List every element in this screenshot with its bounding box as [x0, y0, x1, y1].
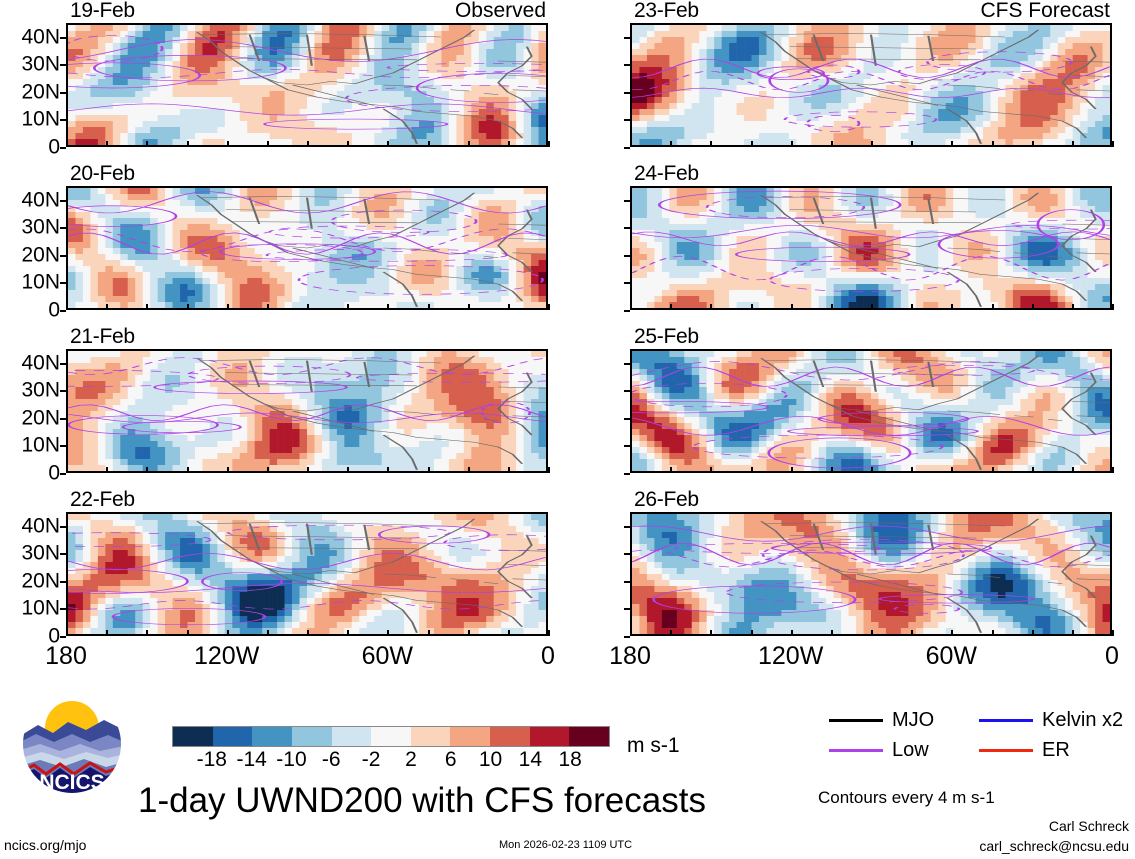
colorbar-swatch-4	[332, 727, 372, 746]
x-tick-mark	[106, 630, 108, 636]
x-tick-mark	[1032, 630, 1034, 636]
low-line-icon	[829, 749, 883, 752]
legend-item-low: Low	[829, 740, 979, 760]
y-tick-mark	[624, 37, 630, 39]
timestamp: Mon 2026-02-23 1109 UTC	[499, 840, 632, 851]
x-tick-mark	[751, 630, 753, 636]
x-tick-mark	[307, 467, 309, 473]
y-tick-mark	[624, 64, 630, 66]
y-tick-mark	[60, 390, 66, 392]
colorbar-tick-label: -2	[362, 749, 381, 770]
panel-date-label: 20-Feb	[70, 163, 135, 184]
x-tick-mark	[387, 467, 389, 473]
x-tick-mark	[106, 304, 108, 310]
figure-title: 1-day UWND200 with CFS forecasts	[138, 783, 706, 818]
legend-row: Low ER	[829, 735, 1129, 765]
x-tick-mark	[911, 141, 913, 147]
site-url: ncics.org/mjo	[4, 838, 86, 852]
legend-item-er: ER	[979, 740, 1129, 760]
x-tick-mark	[710, 304, 712, 310]
map-panel-20-feb: 20-Feb40N30N20N10N0	[66, 186, 548, 310]
legend-label: MJO	[892, 710, 934, 730]
x-tick-mark	[468, 304, 470, 310]
y-tick-mark	[624, 119, 630, 121]
panel-date-label: 21-Feb	[70, 326, 135, 347]
x-tick-mark	[992, 467, 994, 473]
y-tick-mark	[60, 255, 66, 257]
x-tick-mark	[187, 304, 189, 310]
y-tick-mark	[624, 636, 630, 638]
map-plot-area	[66, 23, 548, 147]
x-tick-mark	[548, 630, 550, 636]
x-tick-mark	[1112, 141, 1114, 147]
colorbar-tick-label: 14	[519, 749, 542, 770]
x-tick-mark	[791, 467, 793, 473]
x-tick-mark	[992, 304, 994, 310]
y-tick-mark	[60, 92, 66, 94]
y-axis-label: 20N	[21, 81, 60, 102]
y-axis-label: 40N	[21, 515, 60, 536]
y-tick-mark	[624, 310, 630, 312]
x-tick-mark	[670, 467, 672, 473]
x-tick-mark	[1072, 630, 1074, 636]
y-axis-label: 20N	[21, 407, 60, 428]
x-tick-mark	[992, 630, 994, 636]
panel-grid: 19-FebObserved40N30N20N10N020-Feb40N30N2…	[0, 0, 1135, 680]
x-tick-mark	[106, 141, 108, 147]
legend-label: Low	[892, 740, 929, 760]
column-header-observed: Observed	[455, 0, 546, 21]
ncics-logo-text: NCICS	[39, 771, 104, 794]
map-plot-area	[630, 186, 1112, 310]
y-axis-label: 40N	[21, 26, 60, 47]
map-panel-24-feb: 24-Feb	[630, 186, 1112, 310]
x-tick-mark	[670, 141, 672, 147]
map-panel-19-feb: 19-FebObserved40N30N20N10N0	[66, 23, 548, 147]
x-axis-label: 0	[541, 644, 555, 669]
y-axis-label: 30N	[21, 217, 60, 238]
colorbar-units: m s-1	[627, 735, 680, 756]
colorbar-tick-label: -6	[322, 749, 341, 770]
x-tick-mark	[146, 141, 148, 147]
er-line-icon	[979, 749, 1033, 752]
x-axis-label: 60W	[362, 644, 413, 669]
legend-row: MJO Kelvin x2	[829, 705, 1129, 735]
y-axis-label: 20N	[21, 244, 60, 265]
x-tick-mark	[548, 467, 550, 473]
x-tick-mark	[951, 467, 953, 473]
panel-date-label: 19-Feb	[70, 0, 135, 21]
x-tick-mark	[871, 141, 873, 147]
x-tick-mark	[1072, 304, 1074, 310]
map-plot-area	[630, 512, 1112, 636]
x-tick-mark	[428, 304, 430, 310]
y-tick-mark	[624, 255, 630, 257]
author-email: carl_schreck@ncsu.edu	[979, 839, 1129, 853]
x-tick-mark	[146, 304, 148, 310]
colorbar-swatch-2	[252, 727, 292, 746]
x-tick-mark	[428, 467, 430, 473]
mjo-line-icon	[829, 719, 883, 722]
x-tick-mark	[548, 141, 550, 147]
x-tick-mark	[1112, 630, 1114, 636]
map-panel-21-feb: 21-Feb40N30N20N10N0	[66, 349, 548, 473]
x-tick-mark	[508, 630, 510, 636]
x-tick-mark	[227, 630, 229, 636]
y-tick-mark	[60, 363, 66, 365]
y-tick-mark	[60, 64, 66, 66]
x-tick-mark	[831, 304, 833, 310]
x-tick-mark	[468, 630, 470, 636]
colorbar-tick-label: -10	[276, 749, 306, 770]
y-axis-label: 0	[48, 463, 60, 484]
x-tick-mark	[951, 141, 953, 147]
map-plot-area	[630, 23, 1112, 147]
legend-item-mjo: MJO	[829, 710, 979, 730]
x-tick-mark	[187, 467, 189, 473]
panel-date-label: 24-Feb	[634, 163, 699, 184]
y-tick-mark	[60, 37, 66, 39]
colorbar-swatch-7	[450, 727, 490, 746]
colorbar-tick-label: 18	[558, 749, 581, 770]
x-tick-mark	[347, 304, 349, 310]
colorbar-swatches	[172, 726, 610, 747]
x-axis-label: 120W	[194, 644, 259, 669]
x-tick-mark	[187, 630, 189, 636]
map-panel-25-feb: 25-Feb	[630, 349, 1112, 473]
x-tick-mark	[66, 630, 68, 636]
x-tick-mark	[710, 467, 712, 473]
y-axis-label: 30N	[21, 543, 60, 564]
y-tick-mark	[624, 282, 630, 284]
y-tick-mark	[624, 200, 630, 202]
y-tick-mark	[60, 445, 66, 447]
x-tick-mark	[267, 467, 269, 473]
kelvin-line-icon	[979, 719, 1033, 722]
x-tick-mark	[1032, 304, 1034, 310]
y-axis-label: 20N	[21, 570, 60, 591]
x-tick-mark	[1032, 467, 1034, 473]
x-tick-mark	[146, 467, 148, 473]
y-axis-label: 0	[48, 300, 60, 321]
x-tick-mark	[751, 467, 753, 473]
y-tick-mark	[624, 363, 630, 365]
y-tick-mark	[624, 608, 630, 610]
y-tick-mark	[60, 119, 66, 121]
x-tick-mark	[791, 630, 793, 636]
y-axis-label: 40N	[21, 352, 60, 373]
y-axis-label: 10N	[21, 598, 60, 619]
x-tick-mark	[710, 630, 712, 636]
y-tick-mark	[624, 526, 630, 528]
y-tick-mark	[624, 581, 630, 583]
x-tick-mark	[630, 467, 632, 473]
x-tick-mark	[710, 141, 712, 147]
panel-date-label: 25-Feb	[634, 326, 699, 347]
x-tick-mark	[751, 141, 753, 147]
x-tick-mark	[468, 467, 470, 473]
x-tick-mark	[307, 141, 309, 147]
map-plot-area	[66, 512, 548, 636]
colorbar-swatch-3	[292, 727, 332, 746]
x-tick-mark	[670, 304, 672, 310]
x-tick-mark	[831, 141, 833, 147]
y-axis-label: 40N	[21, 189, 60, 210]
y-axis-label: 30N	[21, 54, 60, 75]
x-tick-mark	[387, 630, 389, 636]
y-tick-mark	[60, 310, 66, 312]
x-tick-mark	[911, 630, 913, 636]
y-axis-label: 10N	[21, 272, 60, 293]
colorbar-swatch-0	[173, 727, 213, 746]
x-tick-mark	[630, 630, 632, 636]
contour-legend: MJO Kelvin x2 Low ER	[829, 705, 1129, 765]
x-axis-label: 180	[609, 644, 651, 669]
x-tick-mark	[66, 141, 68, 147]
x-tick-mark	[670, 630, 672, 636]
y-tick-mark	[624, 473, 630, 475]
x-tick-mark	[1072, 141, 1074, 147]
x-tick-mark	[347, 467, 349, 473]
y-tick-mark	[60, 147, 66, 149]
y-tick-mark	[624, 227, 630, 229]
x-axis-label: 120W	[758, 644, 823, 669]
legend-label: Kelvin x2	[1042, 710, 1123, 730]
contour-interval-note: Contours every 4 m s-1	[818, 789, 995, 806]
x-tick-mark	[428, 141, 430, 147]
x-tick-mark	[508, 141, 510, 147]
x-tick-mark	[831, 467, 833, 473]
map-plot-area	[66, 349, 548, 473]
legend-item-kelvin: Kelvin x2	[979, 710, 1129, 730]
y-tick-mark	[60, 636, 66, 638]
x-tick-mark	[831, 630, 833, 636]
x-tick-mark	[227, 141, 229, 147]
map-panel-22-feb: 22-Feb40N30N20N10N0180120W60W0	[66, 512, 548, 636]
x-axis-label: 60W	[926, 644, 977, 669]
y-tick-mark	[60, 526, 66, 528]
colorbar-swatch-8	[490, 727, 530, 746]
x-tick-mark	[267, 630, 269, 636]
x-tick-mark	[267, 304, 269, 310]
x-tick-mark	[428, 630, 430, 636]
colorbar-tick-label: -18	[197, 749, 227, 770]
y-tick-mark	[624, 147, 630, 149]
x-tick-mark	[508, 467, 510, 473]
x-tick-mark	[548, 304, 550, 310]
legend-label: ER	[1042, 740, 1070, 760]
y-tick-mark	[60, 553, 66, 555]
x-tick-mark	[751, 304, 753, 310]
y-tick-mark	[60, 581, 66, 583]
x-tick-mark	[791, 141, 793, 147]
x-tick-mark	[951, 630, 953, 636]
x-tick-mark	[1112, 304, 1114, 310]
x-tick-mark	[791, 304, 793, 310]
y-tick-mark	[60, 418, 66, 420]
colorbar-swatch-9	[530, 727, 570, 746]
panel-date-label: 26-Feb	[634, 489, 699, 510]
y-axis-label: 10N	[21, 435, 60, 456]
x-axis-label: 0	[1105, 644, 1119, 669]
y-axis-label: 30N	[21, 380, 60, 401]
x-tick-mark	[66, 304, 68, 310]
x-tick-mark	[267, 141, 269, 147]
map-panel-23-feb: 23-FebCFS Forecast	[630, 23, 1112, 147]
x-tick-mark	[1032, 141, 1034, 147]
y-tick-mark	[624, 92, 630, 94]
x-tick-mark	[871, 304, 873, 310]
y-tick-mark	[624, 390, 630, 392]
colorbar-tick-label: 6	[445, 749, 457, 770]
x-tick-mark	[227, 304, 229, 310]
x-tick-mark	[387, 304, 389, 310]
x-tick-mark	[1112, 467, 1114, 473]
map-plot-area	[66, 186, 548, 310]
x-tick-mark	[387, 141, 389, 147]
x-axis-label: 180	[45, 644, 87, 669]
y-tick-mark	[624, 445, 630, 447]
colorbar-swatch-6	[411, 727, 451, 746]
y-axis-label: 0	[48, 137, 60, 158]
y-tick-mark	[60, 227, 66, 229]
map-plot-area	[630, 349, 1112, 473]
ncics-logo: NCICS	[20, 692, 124, 796]
colorbar: -18-14-10-6-226101418	[172, 726, 610, 775]
x-tick-mark	[630, 141, 632, 147]
x-tick-mark	[106, 467, 108, 473]
y-tick-mark	[624, 418, 630, 420]
ncics-logo-graphic: NCICS	[20, 692, 124, 796]
panel-date-label: 22-Feb	[70, 489, 135, 510]
x-tick-mark	[871, 467, 873, 473]
x-tick-mark	[911, 304, 913, 310]
x-tick-mark	[911, 467, 913, 473]
x-tick-mark	[951, 304, 953, 310]
x-tick-mark	[871, 630, 873, 636]
colorbar-ticklabels: -18-14-10-6-226101418	[172, 749, 610, 775]
y-tick-mark	[60, 473, 66, 475]
column-header-cfs-forecast: CFS Forecast	[980, 0, 1110, 21]
y-tick-mark	[624, 553, 630, 555]
colorbar-tick-label: 2	[405, 749, 417, 770]
x-tick-mark	[992, 141, 994, 147]
colorbar-tick-label: -14	[236, 749, 266, 770]
y-tick-mark	[60, 282, 66, 284]
author-name: Carl Schreck	[1049, 819, 1129, 833]
colorbar-swatch-10	[569, 727, 609, 746]
x-tick-mark	[227, 467, 229, 473]
panel-date-label: 23-Feb	[634, 0, 699, 21]
x-tick-mark	[347, 141, 349, 147]
colorbar-tick-label: 10	[479, 749, 502, 770]
x-tick-mark	[468, 141, 470, 147]
y-tick-mark	[60, 608, 66, 610]
x-tick-mark	[307, 630, 309, 636]
x-tick-mark	[630, 304, 632, 310]
x-tick-mark	[1072, 467, 1074, 473]
map-panel-26-feb: 26-Feb180120W60W0	[630, 512, 1112, 636]
x-tick-mark	[146, 630, 148, 636]
colorbar-swatch-1	[213, 727, 253, 746]
x-tick-mark	[187, 141, 189, 147]
x-tick-mark	[307, 304, 309, 310]
y-tick-mark	[60, 200, 66, 202]
colorbar-swatch-5	[371, 727, 411, 746]
x-tick-mark	[66, 467, 68, 473]
x-tick-mark	[347, 630, 349, 636]
x-tick-mark	[508, 304, 510, 310]
y-axis-label: 10N	[21, 109, 60, 130]
